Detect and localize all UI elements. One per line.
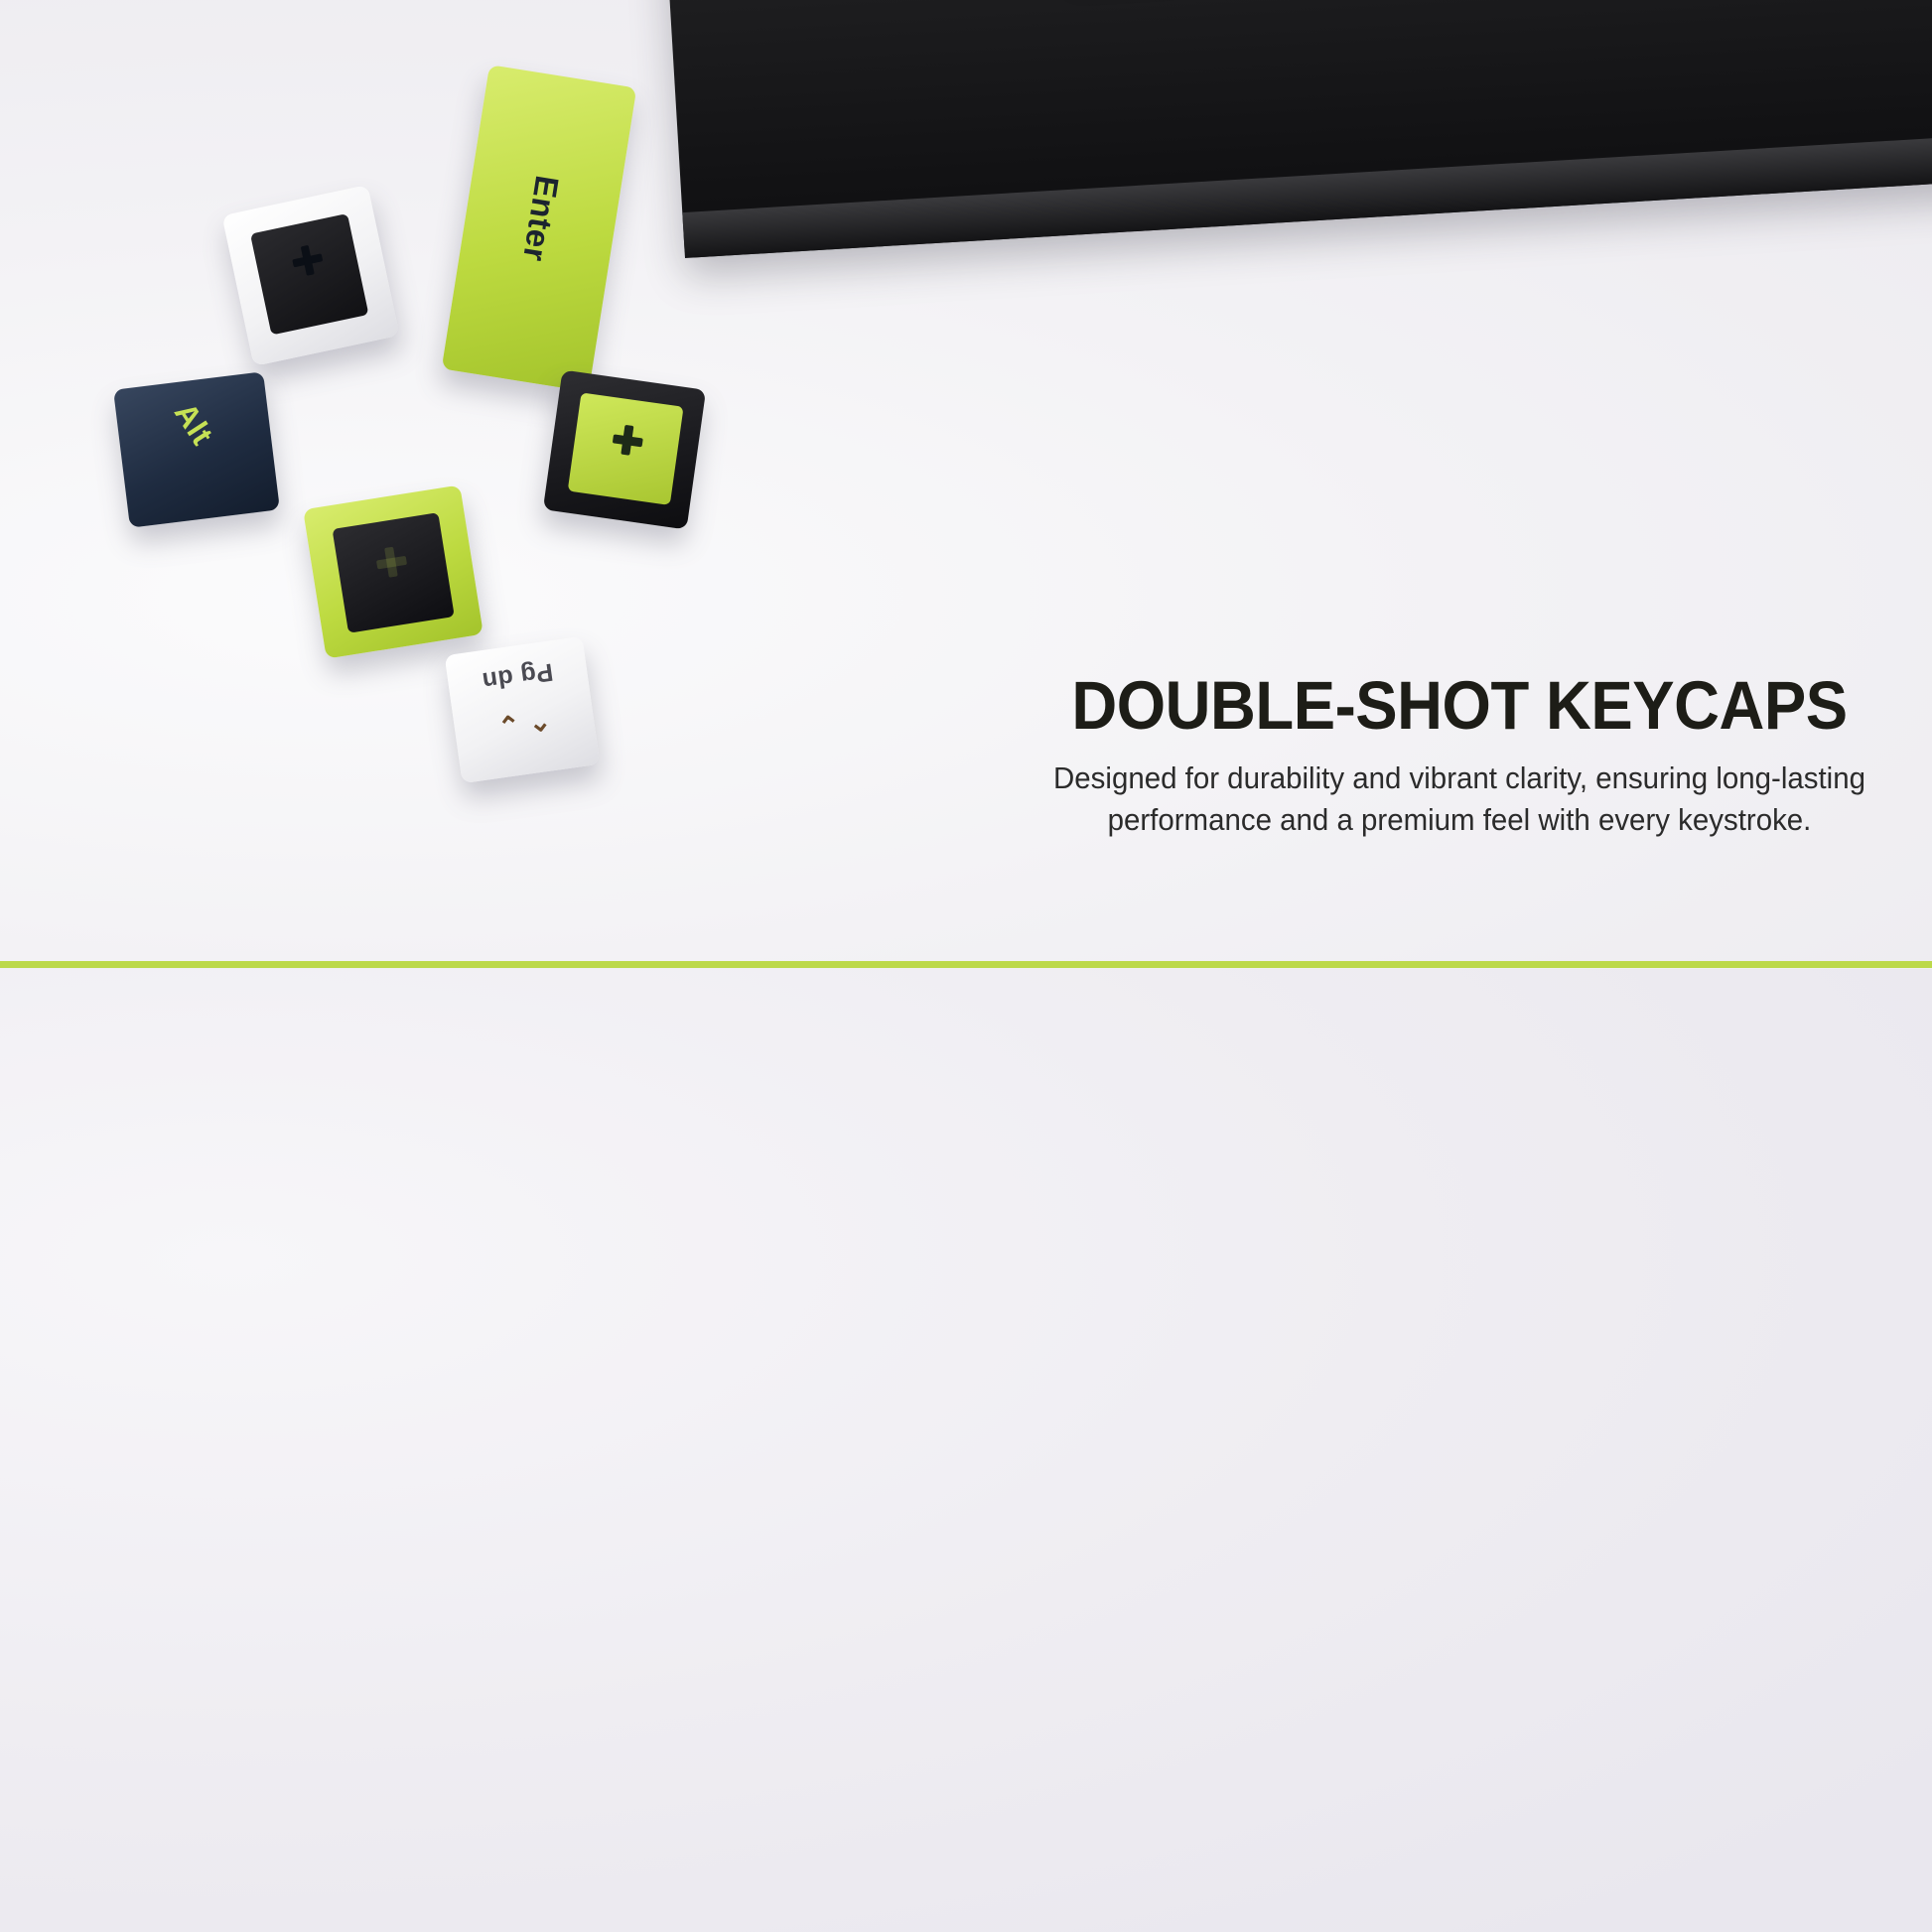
section-divider — [0, 961, 1932, 968]
loose-keycap-enter: Enter — [442, 65, 637, 392]
loose-keycap-white-open — [222, 185, 400, 366]
keycaps-body-line-1: Designed for durability and vibrant clar… — [1035, 758, 1884, 799]
keycaps-heading: DOUBLE-SHOT KEYCAPS — [1048, 671, 1870, 740]
product-feature-page: Win ☉ Alt Enter — [0, 0, 1932, 1932]
section-double-shot-keycaps: Win ☉ Alt Enter — [0, 0, 1932, 963]
loose-keycap-alt: Alt — [113, 371, 280, 527]
keycaps-body-line-2: performance and a premium feel with ever… — [1035, 799, 1884, 841]
keycaps-text-block: DOUBLE-SHOT KEYCAPS Designed for durabil… — [1013, 671, 1906, 840]
keycaps-body: Designed for durability and vibrant clar… — [1035, 758, 1884, 840]
loose-keycap-pgdn: Pg dn ⌃ ⌄ — [445, 636, 601, 783]
keyboard-top-photo: Win ☉ Alt — [652, 0, 1932, 258]
loose-keycap-lime-open — [303, 484, 483, 658]
loose-keycap-black-open — [543, 370, 706, 530]
section-red-or-blue-switches: Esc ~ Tab Caps Shift Ctrl ■ Alt 1 ! 2 @ … — [0, 969, 1932, 1932]
keyboard-case — [652, 0, 1932, 258]
